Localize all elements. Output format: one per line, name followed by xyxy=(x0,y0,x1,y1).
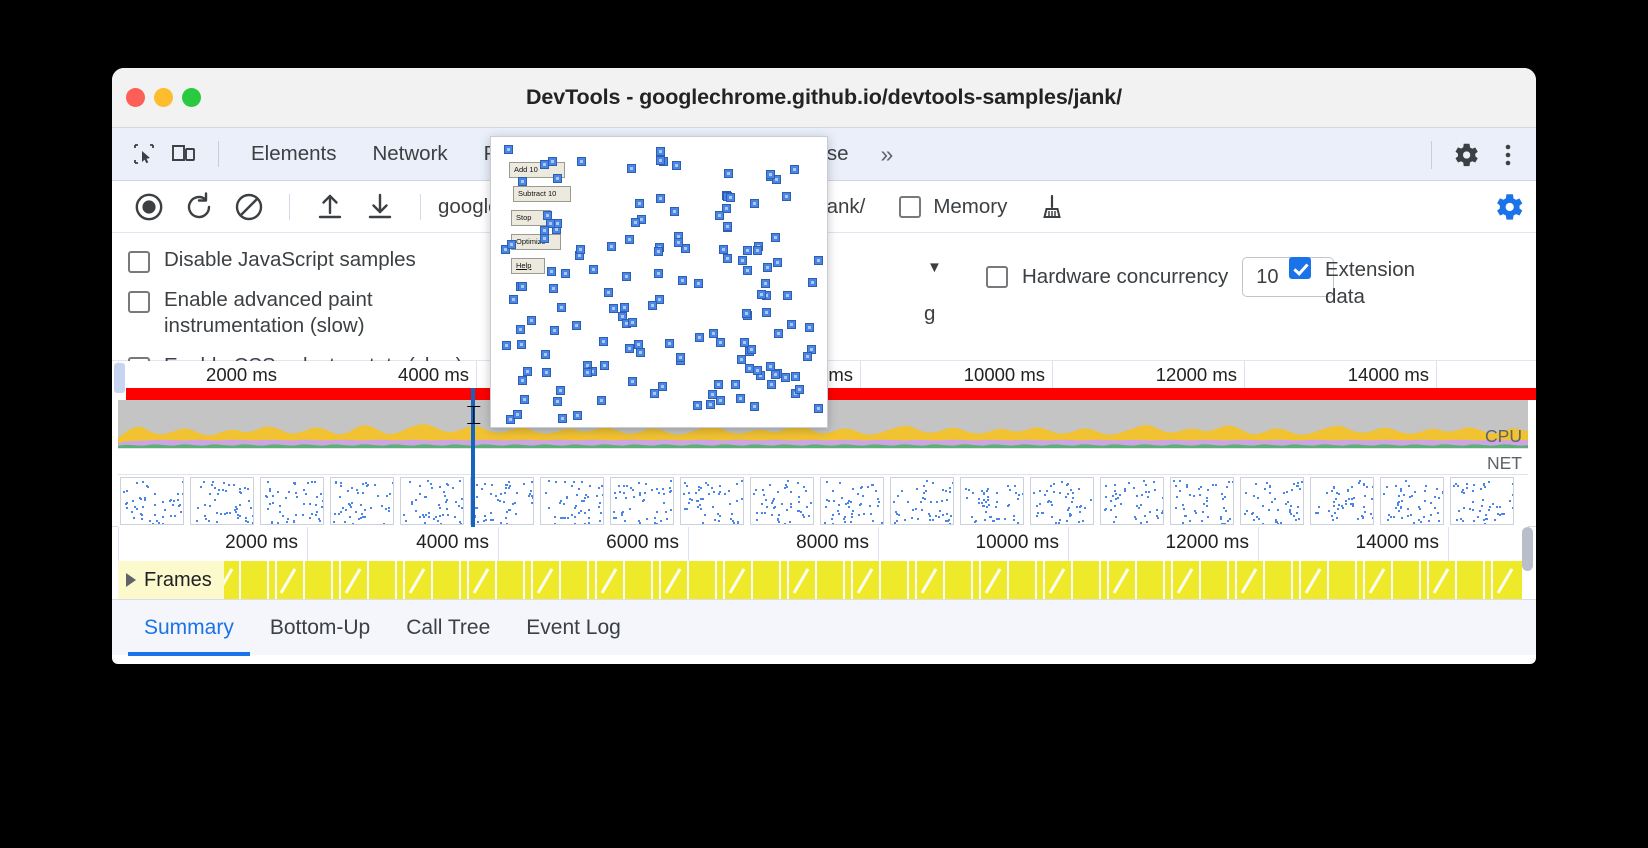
record-icon[interactable] xyxy=(126,184,172,230)
advanced-paint-checkbox[interactable] xyxy=(128,291,150,313)
frames-bars-svg xyxy=(118,561,1522,599)
ruler-tick xyxy=(118,527,119,561)
traffic-light-buttons xyxy=(126,88,201,107)
filmstrip-thumbnail[interactable] xyxy=(1170,477,1234,525)
upload-profile-icon[interactable] xyxy=(307,184,353,230)
jank-button-subtract-10[interactable]: Subtract 10 xyxy=(513,186,571,202)
ruler-label: 10000 ms xyxy=(976,532,1068,554)
filmstrip-thumbnail[interactable] xyxy=(330,477,394,525)
more-options-kebab-icon[interactable] xyxy=(1488,135,1528,175)
filmstrip-thumbnail[interactable] xyxy=(260,477,324,525)
minimize-window-button[interactable] xyxy=(154,88,173,107)
frames-track-header[interactable]: Frames xyxy=(118,561,224,599)
filmstrip-screenshot-preview-popup[interactable]: Add 10 Subtract 10 Stop Optimize Help xyxy=(490,136,828,428)
filmstrip-thumbnail[interactable] xyxy=(680,477,744,525)
tab-network[interactable]: Network xyxy=(354,128,465,181)
option-advanced-paint[interactable]: Enable advanced paint instrumentation (s… xyxy=(128,287,494,340)
filmstrip-thumbnail[interactable] xyxy=(750,477,814,525)
capture-settings-gear-icon[interactable] xyxy=(1492,181,1526,233)
frames-track-label: Frames xyxy=(144,569,212,592)
filmstrip-thumbnail[interactable] xyxy=(610,477,674,525)
overview-scrollbar-thumb[interactable] xyxy=(1522,527,1533,571)
advanced-paint-label: Enable advanced paint instrumentation (s… xyxy=(164,287,494,340)
net-band-label: NET xyxy=(1487,453,1522,474)
jank-button-optimize[interactable]: Optimize xyxy=(511,234,561,250)
long-task-warning-bar xyxy=(126,388,1536,400)
ruler-label: 2000 ms xyxy=(225,532,307,554)
extension-data-checkbox[interactable] xyxy=(1289,257,1311,279)
ruler-label: 4000 ms xyxy=(416,532,498,554)
maximize-window-button[interactable] xyxy=(182,88,201,107)
collect-garbage-broom-icon[interactable] xyxy=(1029,184,1075,230)
ruler-tick xyxy=(1052,361,1053,388)
filmstrip-thumbnail[interactable] xyxy=(1240,477,1304,525)
download-profile-icon[interactable] xyxy=(357,184,403,230)
chevron-down-icon[interactable]: ▼ xyxy=(927,259,942,276)
filmstrip-thumbnail[interactable] xyxy=(1100,477,1164,525)
ruler-tick xyxy=(1436,361,1437,388)
filmstrip-thumbnail[interactable] xyxy=(890,477,954,525)
tabbar-right-actions xyxy=(1419,128,1536,181)
ruler-label: 14000 ms xyxy=(1356,532,1448,554)
tab-summary[interactable]: Summary xyxy=(128,600,250,656)
hardware-concurrency-group[interactable]: Hardware concurrency 10 xyxy=(986,257,1334,297)
inspect-element-icon[interactable] xyxy=(124,134,164,174)
screenshot-stage: DevTools - googlechrome.github.io/devtoo… xyxy=(0,0,1648,848)
more-tabs-chevron-icon[interactable]: » xyxy=(867,128,908,181)
filmstrip-thumbnail[interactable] xyxy=(540,477,604,525)
ruler-tick xyxy=(1068,527,1069,561)
extension-data-label: Extension data xyxy=(1325,257,1445,310)
overview-left-resize-handle[interactable] xyxy=(114,363,125,393)
jank-button-help[interactable]: Help xyxy=(511,258,545,274)
ruler-tick xyxy=(1244,361,1245,388)
ruler-tick xyxy=(1448,527,1449,561)
cpu-band-label: CPU xyxy=(1485,426,1522,447)
tab-elements[interactable]: Elements xyxy=(233,128,354,181)
memory-checkbox-box[interactable] xyxy=(899,196,921,218)
memory-checkbox[interactable]: Memory xyxy=(899,195,1007,219)
tab-bottom-up[interactable]: Bottom-Up xyxy=(254,600,386,656)
settings-gear-icon[interactable] xyxy=(1446,135,1486,175)
resize-cursor-icon: ⌶ xyxy=(466,401,482,432)
device-toolbar-icon[interactable] xyxy=(164,134,204,174)
ruler-tick xyxy=(1258,527,1259,561)
ruler-label: 10000 ms xyxy=(964,364,1052,386)
close-window-button[interactable] xyxy=(126,88,145,107)
filmstrip-thumbnail[interactable] xyxy=(400,477,464,525)
toolbar-divider-2 xyxy=(420,194,421,220)
hardware-concurrency-checkbox[interactable] xyxy=(986,266,1008,288)
ruler-label: 6000 ms xyxy=(606,532,688,554)
filmstrip-thumbnail[interactable] xyxy=(190,477,254,525)
frames-track[interactable]: Frames xyxy=(118,561,1522,599)
filmstrip-thumbnail[interactable] xyxy=(960,477,1024,525)
tabbar-divider xyxy=(218,141,219,167)
filmstrip-thumbnail[interactable] xyxy=(120,477,184,525)
ruler-label: 4000 ms xyxy=(398,364,476,386)
expand-triangle-icon[interactable] xyxy=(126,573,136,587)
filmstrip-thumbnail[interactable] xyxy=(1380,477,1444,525)
toolbar-divider-1 xyxy=(289,194,290,220)
window-title: DevTools - googlechrome.github.io/devtoo… xyxy=(112,85,1536,110)
window-titlebar: DevTools - googlechrome.github.io/devtoo… xyxy=(112,68,1536,128)
tab-call-tree[interactable]: Call Tree xyxy=(390,600,506,656)
ruler-label: 12000 ms xyxy=(1156,364,1244,386)
filmstrip-thumbnail[interactable] xyxy=(1450,477,1514,525)
network-activity-band[interactable]: NET xyxy=(118,448,1528,475)
ruler-tick xyxy=(688,527,689,561)
disable-js-samples-label: Disable JavaScript samples xyxy=(164,247,416,274)
reload-and-record-icon[interactable] xyxy=(176,184,222,230)
ruler-tick xyxy=(476,361,477,388)
filmstrip-thumbnail[interactable] xyxy=(820,477,884,525)
ruler-tick xyxy=(498,527,499,561)
flame-chart-time-ruler: 2000 ms 4000 ms 6000 ms 8000 ms 10000 ms… xyxy=(118,527,1522,561)
screenshot-filmstrip[interactable] xyxy=(118,475,1528,527)
filmstrip-thumbnail[interactable] xyxy=(1030,477,1094,525)
ruler-tick xyxy=(878,527,879,561)
network-throttle-dropdown[interactable]: ▼ xyxy=(927,259,942,277)
ruler-tick xyxy=(307,527,308,561)
tab-event-log[interactable]: Event Log xyxy=(510,600,637,656)
clear-icon[interactable] xyxy=(226,184,272,230)
ruler-label: 14000 ms xyxy=(1348,364,1436,386)
filmstrip-thumbnail[interactable] xyxy=(1310,477,1374,525)
hardware-concurrency-label: Hardware concurrency xyxy=(1022,264,1228,291)
ruler-label: 8000 ms xyxy=(796,532,878,554)
disable-js-samples-checkbox[interactable] xyxy=(128,251,150,273)
throttle-partial-label: g xyxy=(924,301,935,328)
ruler-label: 2000 ms xyxy=(206,364,284,386)
option-disable-js-samples[interactable]: Disable JavaScript samples xyxy=(128,247,494,274)
memory-checkbox-label: Memory xyxy=(933,195,1007,219)
ruler-label: 12000 ms xyxy=(1166,532,1258,554)
filmstrip-thumbnail[interactable] xyxy=(470,477,534,525)
extension-data-group[interactable]: Extension data xyxy=(1289,257,1445,310)
ruler-tick xyxy=(860,361,861,388)
detail-view-tabbar: Summary Bottom-Up Call Tree Event Log xyxy=(112,599,1536,655)
tabbar-right-divider xyxy=(1431,141,1432,169)
